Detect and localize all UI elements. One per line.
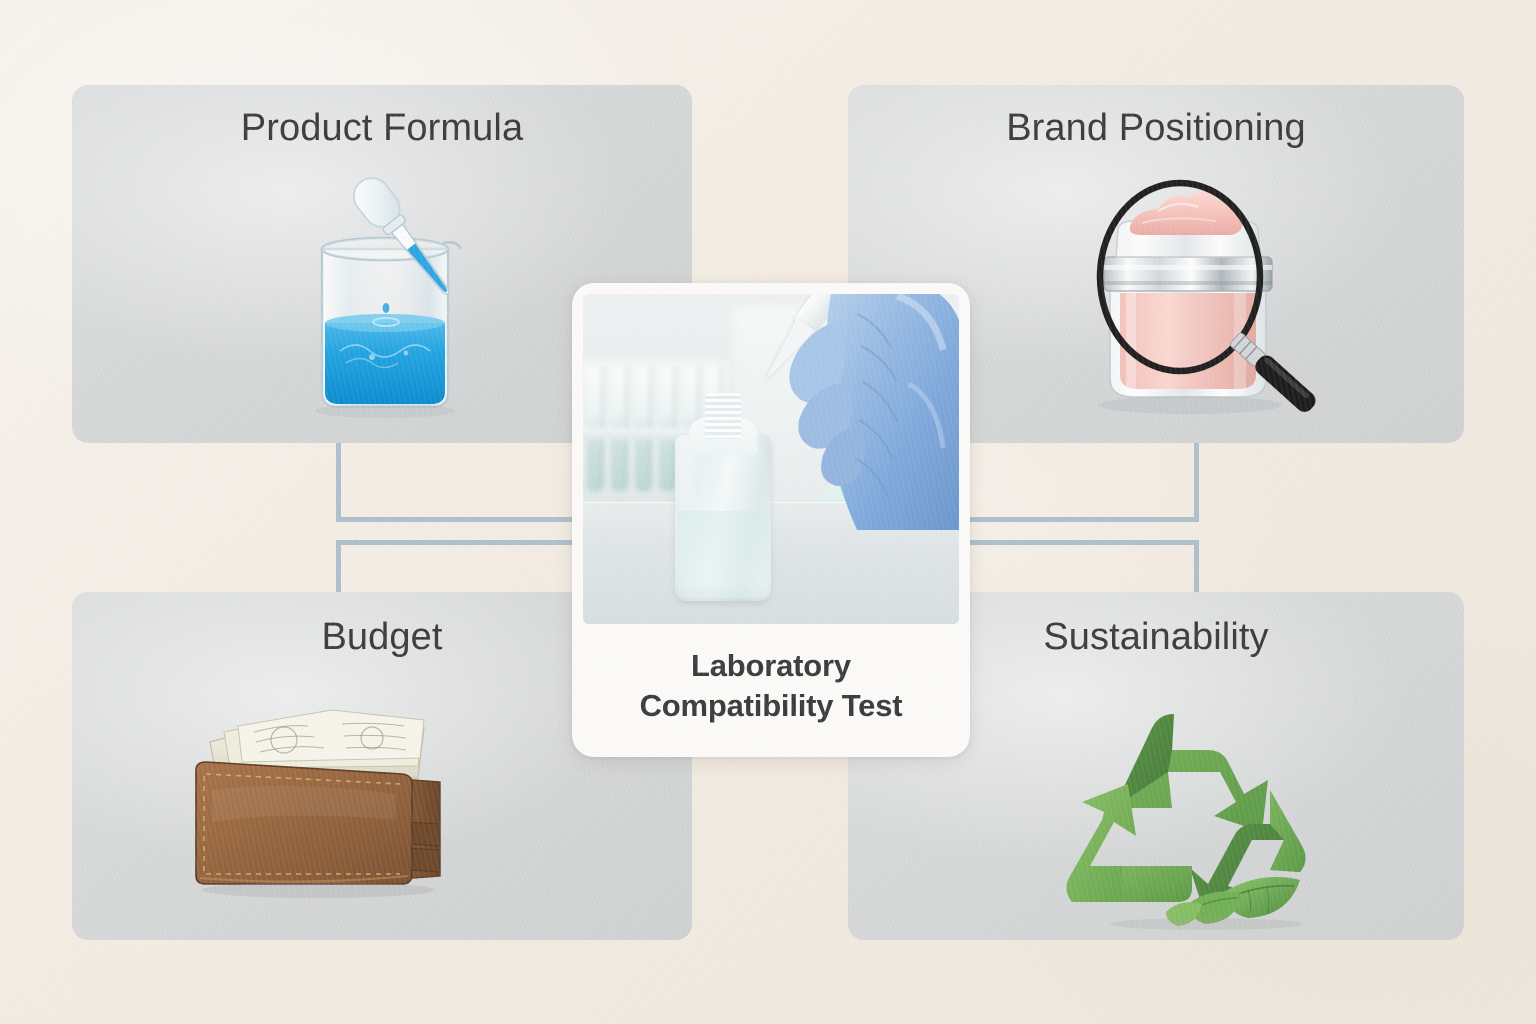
center-card-title: Laboratory Compatibility Test (583, 646, 959, 727)
diagram-canvas: Product Formula (0, 0, 1536, 1024)
gloved-hand (737, 294, 959, 530)
connector-product-formula-vertical (336, 443, 341, 522)
wallet-with-cash-icon (172, 670, 472, 910)
recycle-leaves-icon (1056, 680, 1336, 930)
beaker-with-dropper-icon (260, 175, 510, 425)
center-card-title-line1: Laboratory (583, 646, 959, 686)
connector-budget-horizontal (336, 540, 576, 545)
center-card-title-line2: Compatibility Test (583, 686, 959, 726)
center-card-laboratory-compatibility-test[interactable]: Laboratory Compatibility Test (572, 283, 970, 757)
panel-title-product-formula: Product Formula (72, 107, 692, 150)
panel-title-brand-positioning: Brand Positioning (848, 107, 1464, 150)
connector-brand-positioning-horizontal (966, 517, 1199, 522)
connector-sustainability-horizontal (966, 540, 1199, 545)
cream-jar-magnifier-icon (1038, 165, 1338, 435)
connector-brand-positioning-vertical (1194, 443, 1199, 522)
connector-product-formula-horizontal (336, 517, 576, 522)
center-photo-lab-pipette (583, 294, 959, 624)
